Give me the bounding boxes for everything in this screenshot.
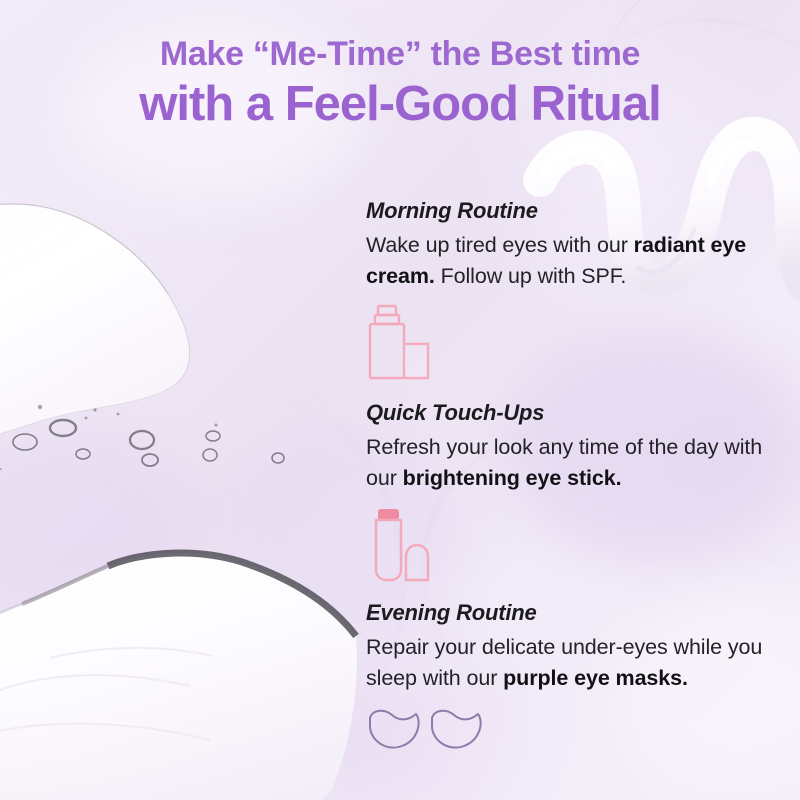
section-body: Refresh your look any time of the day wi… xyxy=(366,432,766,494)
section-body: Wake up tired eyes with our radiant eye … xyxy=(366,230,766,292)
routine-sections: Morning Routine Wake up tired eyes with … xyxy=(366,196,776,764)
eye-stick-tube-icon xyxy=(366,506,776,584)
body-text-run: Follow up with SPF. xyxy=(435,264,627,288)
section-title: Quick Touch-Ups xyxy=(366,398,776,428)
body-text-bold-run: purple eye masks. xyxy=(503,666,688,690)
clear-gel-blob-texture xyxy=(0,170,300,470)
section-spacer xyxy=(366,584,776,598)
section-quick-touch-ups: Quick Touch-Ups Refresh your look any ti… xyxy=(366,398,776,584)
white-cream-swatch-texture xyxy=(0,540,360,800)
section-spacer xyxy=(366,382,776,398)
headline: Make “Me-Time” the Best time with a Feel… xyxy=(0,34,800,132)
section-evening-routine: Evening Routine Repair your delicate und… xyxy=(366,598,776,764)
eye-cream-pump-bottle-icon xyxy=(366,304,776,382)
section-body: Repair your delicate under-eyes while yo… xyxy=(366,632,766,694)
body-text-run: Wake up tired eyes with our xyxy=(366,233,634,257)
section-title: Morning Routine xyxy=(366,196,776,226)
headline-line-1: Make “Me-Time” the Best time xyxy=(0,34,800,74)
body-text-bold-run: brightening eye stick. xyxy=(403,466,622,490)
under-eye-masks-pair-icon xyxy=(366,708,776,764)
headline-line-2: with a Feel-Good Ritual xyxy=(0,76,800,132)
section-morning-routine: Morning Routine Wake up tired eyes with … xyxy=(366,196,776,382)
section-title: Evening Routine xyxy=(366,598,776,628)
promo-poster: Make “Me-Time” the Best time with a Feel… xyxy=(0,0,800,800)
